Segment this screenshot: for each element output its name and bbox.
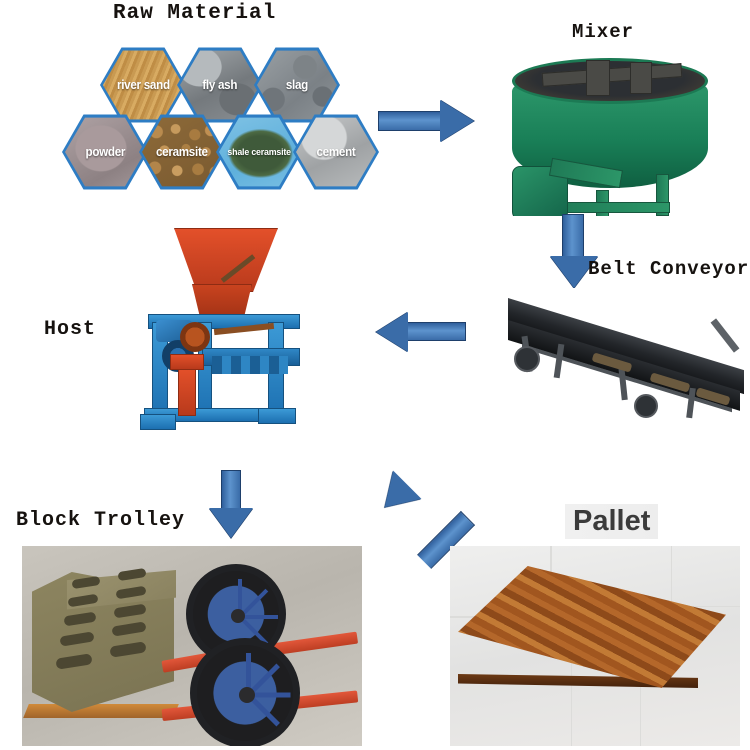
- belt-conveyor-photo[interactable]: [500, 288, 750, 428]
- conveyor-wheel-right: [634, 394, 658, 418]
- trolley-wheel-front: [190, 638, 300, 746]
- arrow-host-to-block-trolley: [204, 470, 260, 540]
- mixer-photo[interactable]: [490, 44, 730, 216]
- host-mould-box: [212, 356, 288, 374]
- host-machine-photo[interactable]: [118, 222, 330, 432]
- host-ram-guide: [178, 368, 196, 416]
- material-hexagon-ceramsite[interactable]: ceramsite: [139, 113, 225, 191]
- material-label-cement: cement: [316, 145, 355, 159]
- host-belt-wheel: [180, 322, 210, 352]
- material-hexagon-fly-ash[interactable]: fly ash: [177, 46, 263, 124]
- belt-conveyor-label: Belt Conveyor: [588, 258, 749, 280]
- material-hexagon-powder[interactable]: powder: [62, 113, 148, 191]
- conveyor-tail-support: [711, 318, 740, 352]
- pallet-photo[interactable]: [450, 546, 740, 746]
- host-label: Host: [44, 318, 96, 341]
- arrow-raw-material-to-mixer: [378, 100, 478, 142]
- raw-material-label: Raw Material: [113, 2, 276, 25]
- block-trolley-label: Block Trolley: [16, 509, 185, 532]
- material-label-powder: powder: [85, 145, 125, 159]
- host-hopper: [174, 228, 278, 292]
- material-label-river-sand: river sand: [117, 78, 170, 92]
- pallet-label: Pallet: [565, 504, 658, 539]
- material-label-shale-ceramsite: shale ceramsite: [227, 147, 291, 158]
- arrow-belt-conveyor-to-host: [376, 312, 468, 352]
- material-hexagon-slag[interactable]: slag: [254, 46, 340, 124]
- material-hexagon-river-sand[interactable]: river sand: [100, 46, 186, 124]
- conveyor-wheel-left: [514, 346, 540, 372]
- trolley-pallet: [23, 704, 179, 718]
- block-trolley-photo[interactable]: [22, 546, 362, 746]
- host-foot-left: [140, 414, 176, 430]
- mixer-blade-left: [586, 60, 610, 96]
- host-press-head: [170, 354, 204, 370]
- material-hexagon-shale-ceramsite[interactable]: shale ceramsite: [216, 113, 302, 191]
- process-flow-diagram: Raw Material river sand fly ash slag pow…: [0, 0, 750, 750]
- mixer-blade-right: [630, 62, 652, 94]
- material-label-ceramsite: ceramsite: [156, 145, 208, 159]
- material-hexagon-cement[interactable]: cement: [293, 113, 379, 191]
- material-label-slag: slag: [286, 78, 308, 92]
- host-foot-right: [258, 408, 296, 424]
- mixer-label: Mixer: [572, 21, 634, 43]
- material-label-fly-ash: fly ash: [203, 78, 238, 92]
